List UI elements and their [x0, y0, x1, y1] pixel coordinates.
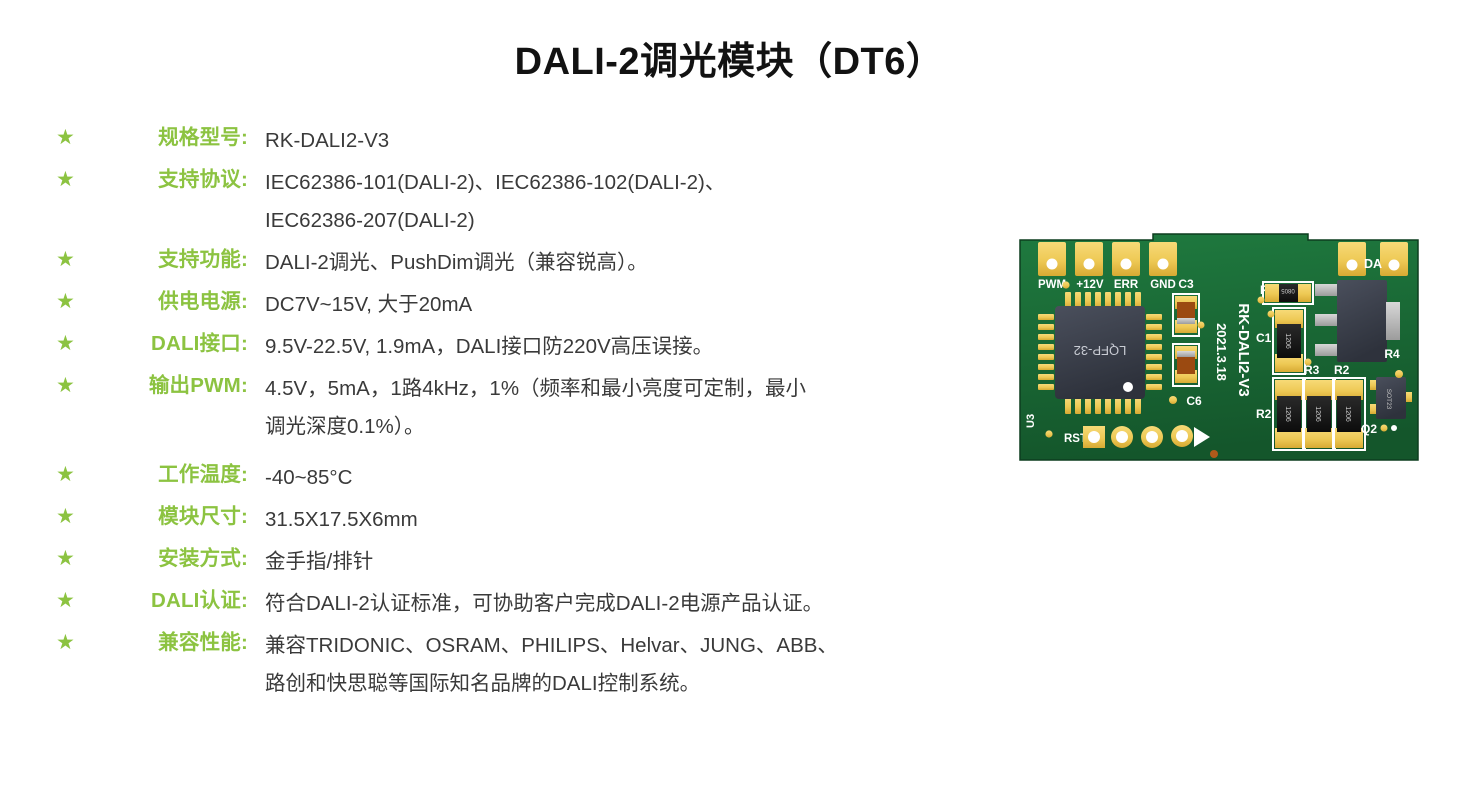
spec-value-line: DALI-2调光、PushDim调光（兼容锐高）。: [265, 244, 986, 282]
spec-value-line: 9.5V-22.5V, 1.9mA，DALI接口防220V高压误接。: [265, 328, 986, 366]
spec-label-dimensions: 模块尺寸:: [90, 501, 248, 532]
pin-label-err: ERR: [1114, 279, 1139, 291]
microcontroller-ic: LQFP-32: [1038, 292, 1162, 414]
component-code: 1206: [1344, 406, 1351, 422]
pcb-illustration: PWM +12V ERR GND DA: [1018, 232, 1420, 464]
component-code: 1206: [1284, 406, 1291, 422]
star-icon: ★: [56, 122, 90, 153]
spec-label-protocol: 支持协议:: [90, 164, 248, 195]
spec-row-certification: ★ DALI认证: 符合DALI-2认证标准，可协助客户完成DALI-2电源产品…: [56, 585, 986, 623]
board-date-silkscreen: 2021.3.18: [1214, 323, 1229, 381]
spec-value-compatibility: 兼容TRIDONIC、OSRAM、PHILIPS、Helvar、JUNG、ABB…: [248, 627, 986, 703]
spec-value-line: RK-DALI2-V3: [265, 122, 986, 160]
star-icon: ★: [56, 244, 90, 275]
spec-value-line: 调光深度0.1%）。: [265, 408, 986, 446]
component-code: 1206: [1284, 333, 1291, 349]
designator-c6: C6: [1186, 394, 1202, 408]
spec-value-line: 符合DALI-2认证标准，可协助客户完成DALI-2电源产品认证。: [265, 585, 986, 623]
component-code: 1206: [1314, 406, 1321, 422]
spec-row-function: ★ 支持功能: DALI-2调光、PushDim调光（兼容锐高）。: [56, 244, 986, 282]
spec-label-function: 支持功能:: [90, 244, 248, 275]
pin-label-gnd: GND: [1150, 279, 1176, 291]
spec-value-line: 兼容TRIDONIC、OSRAM、PHILIPS、Helvar、JUNG、ABB…: [265, 627, 986, 665]
spec-value-line: 31.5X17.5X6mm: [265, 501, 986, 539]
specification-list: ★ 规格型号: RK-DALI2-V3 ★ 支持协议: IEC62386-101…: [56, 122, 986, 707]
star-icon: ★: [56, 501, 90, 532]
via-hole: [1062, 281, 1069, 288]
pin-label-12v: +12V: [1076, 279, 1104, 291]
spec-row-dali-interface: ★ DALI接口: 9.5V-22.5V, 1.9mA，DALI接口防220V高…: [56, 328, 986, 366]
dali-pad-label: DA: [1364, 257, 1382, 271]
spec-value-protocol: IEC62386-101(DALI-2)、IEC62386-102(DALI-2…: [248, 164, 986, 240]
spec-row-dimensions: ★ 模块尺寸: 31.5X17.5X6mm: [56, 501, 986, 539]
spec-value-line: IEC62386-101(DALI-2)、IEC62386-102(DALI-2…: [265, 164, 986, 202]
designator-r2: R2: [1334, 363, 1350, 377]
spec-row-output-pwm: ★ 输出PWM: 4.5V，5mA，1路4kHz，1%（频率和最小亮度可定制，最…: [56, 370, 986, 446]
designator-r3: R3: [1304, 363, 1320, 377]
star-icon: ★: [56, 164, 90, 195]
star-icon: ★: [56, 543, 90, 574]
spec-value-temperature: -40~85°C: [248, 459, 986, 497]
designator-r4: R2: [1256, 407, 1272, 421]
star-icon: ★: [56, 328, 90, 359]
spec-value-power-supply: DC7V~15V, 大于20mA: [248, 286, 986, 324]
spec-value-model: RK-DALI2-V3: [248, 122, 986, 160]
star-icon: ★: [56, 370, 90, 401]
spec-label-dali-interface: DALI接口:: [90, 328, 248, 359]
spec-label-power-supply: 供电电源:: [90, 286, 248, 317]
pcb-board-image: PWM +12V ERR GND DA: [1018, 232, 1420, 464]
spec-value-line: 4.5V，5mA，1路4kHz，1%（频率和最小亮度可定制，最小: [265, 370, 986, 408]
component-code: SOT23: [1385, 389, 1392, 410]
designator-q2: Q2: [1361, 422, 1377, 436]
spec-row-temperature: ★ 工作温度: -40~85°C: [56, 459, 986, 497]
spec-label-certification: DALI认证:: [90, 585, 248, 616]
spec-label-model: 规格型号:: [90, 122, 248, 153]
spec-row-protocol: ★ 支持协议: IEC62386-101(DALI-2)、IEC62386-10…: [56, 164, 986, 240]
ic-marking-label: LQFP-32: [1074, 343, 1127, 358]
spec-label-mounting: 安装方式:: [90, 543, 248, 574]
page-title: DALI-2调光模块（DT6）: [0, 30, 1459, 85]
spec-row-power-supply: ★ 供电电源: DC7V~15V, 大于20mA: [56, 286, 986, 324]
spec-row-mounting: ★ 安装方式: 金手指/排针: [56, 543, 986, 581]
spec-row-model: ★ 规格型号: RK-DALI2-V3: [56, 122, 986, 160]
component-code: 0805: [1281, 287, 1295, 293]
spec-value-dimensions: 31.5X17.5X6mm: [248, 501, 986, 539]
board-name-silkscreen: RK-DALI2-V3: [1235, 303, 1252, 396]
designator-c3: C3: [1178, 277, 1194, 291]
via-hole: [1045, 430, 1052, 437]
spec-value-certification: 符合DALI-2认证标准，可协助客户完成DALI-2电源产品认证。: [248, 585, 986, 623]
spec-value-line: DC7V~15V, 大于20mA: [265, 286, 986, 324]
spec-value-line: -40~85°C: [265, 459, 986, 497]
pin-label-pwm: PWM: [1038, 279, 1066, 291]
designator-u3: U3: [1025, 414, 1037, 428]
star-icon: ★: [56, 585, 90, 616]
spec-value-line: 路创和快思聪等国际知名品牌的DALI控制系统。: [265, 665, 986, 703]
spec-label-temperature: 工作温度:: [90, 459, 248, 490]
spec-value-line: 金手指/排针: [265, 543, 986, 581]
spec-value-function: DALI-2调光、PushDim调光（兼容锐高）。: [248, 244, 986, 282]
star-icon: ★: [56, 627, 90, 658]
star-icon: ★: [56, 286, 90, 317]
spec-value-output-pwm: 4.5V，5mA，1路4kHz，1%（频率和最小亮度可定制，最小 调光深度0.1…: [248, 370, 986, 446]
spec-row-compatibility: ★ 兼容性能: 兼容TRIDONIC、OSRAM、PHILIPS、Helvar、…: [56, 627, 986, 703]
resistor-r6: R6 0805: [1258, 282, 1314, 304]
star-icon: ★: [56, 459, 90, 490]
spec-label-compatibility: 兼容性能:: [90, 627, 248, 658]
designator-c1: C1: [1256, 331, 1272, 345]
spec-label-output-pwm: 输出PWM:: [90, 370, 248, 401]
spec-value-mounting: 金手指/排针: [248, 543, 986, 581]
spec-value-line: IEC62386-207(DALI-2): [265, 202, 986, 240]
designator-q3: R4: [1384, 347, 1400, 361]
spec-value-dali-interface: 9.5V-22.5V, 1.9mA，DALI接口防220V高压误接。: [248, 328, 986, 366]
